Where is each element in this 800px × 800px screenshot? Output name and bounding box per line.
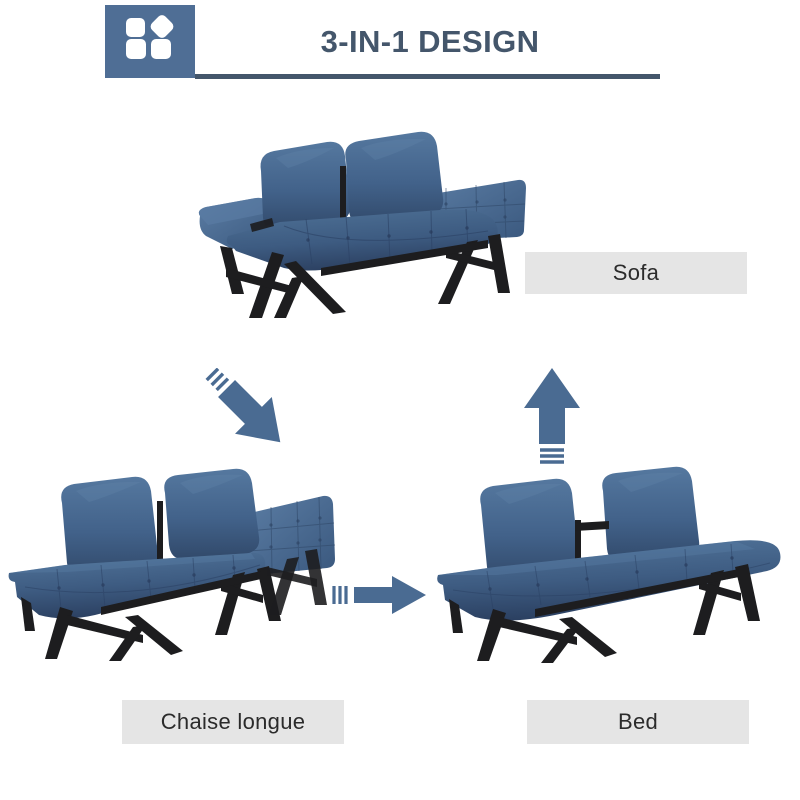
- transform-arrow-bed-to-sofa: [506, 362, 598, 466]
- sofa-center-support: [340, 166, 346, 224]
- transform-arrow-chaise-to-bed: [326, 566, 436, 624]
- label-bed-text: Bed: [618, 709, 658, 735]
- label-bed: Bed: [527, 700, 749, 744]
- header-icon-block: [105, 5, 195, 78]
- product-image-chaise-longue: [5, 455, 350, 670]
- transform-arrow-sofa-to-chaise: [196, 368, 308, 460]
- header-banner: 3-IN-1 DESIGN: [0, 0, 800, 95]
- label-chaise-longue: Chaise longue: [122, 700, 344, 744]
- chaise-center-support: [157, 501, 163, 563]
- label-chaise-longue-text: Chaise longue: [161, 709, 306, 735]
- four-squares-grid-icon: [123, 15, 177, 69]
- header-underline-bar: [195, 74, 660, 79]
- label-sofa-text: Sofa: [613, 260, 659, 286]
- product-image-bed: [435, 455, 785, 670]
- product-image-sofa: [188, 118, 538, 328]
- label-sofa: Sofa: [525, 252, 747, 294]
- page-title: 3-IN-1 DESIGN: [195, 5, 665, 78]
- chaise-pillow-right: [164, 469, 259, 559]
